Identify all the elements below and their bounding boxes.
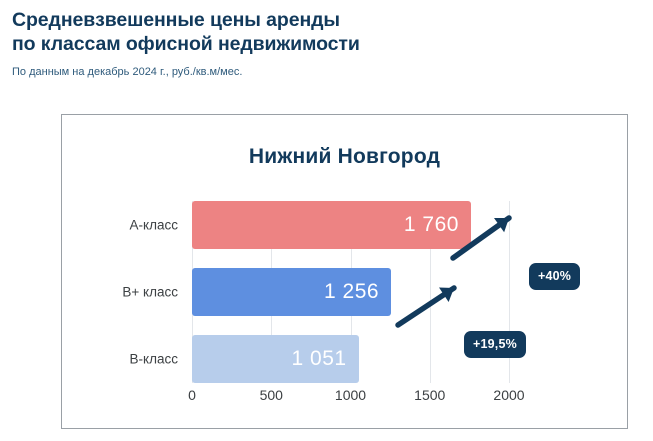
page-title-line-2: по классам офисной недвижимости	[12, 32, 632, 56]
bar-row: А-класс1 760	[192, 201, 509, 249]
screenshot-root: Средневзвешенные цены аренды по классам …	[0, 0, 653, 441]
category-label: А-класс	[130, 218, 178, 233]
page-title-line-1: Средневзвешенные цены аренды	[12, 8, 632, 32]
growth-badge: +40%	[529, 263, 580, 290]
x-tick-label: 1500	[414, 387, 445, 403]
bar-value-label: 1 256	[324, 280, 379, 304]
x-tick-label: 0	[188, 387, 196, 403]
plot-area: А-класс1 760В+ класс1 256В-класс1 051+19…	[192, 201, 509, 383]
bar-value-label: 1 051	[292, 347, 347, 371]
bar-row: В+ класс1 256	[192, 268, 509, 316]
x-tick-label: 1000	[335, 387, 366, 403]
category-label: В+ класс	[122, 285, 178, 300]
header: Средневзвешенные цены аренды по классам …	[12, 8, 632, 79]
growth-badge: +19,5%	[464, 331, 526, 358]
x-tick-label: 2000	[493, 387, 524, 403]
bar-value-label: 1 760	[404, 213, 459, 237]
bar-row: В-класс1 051	[192, 335, 509, 383]
category-label: В-класс	[130, 352, 178, 367]
x-tick-label: 500	[260, 387, 283, 403]
page-subtitle: По данным на декабрь 2024 г., руб./кв.м/…	[12, 65, 632, 79]
chart-panel: Нижний Новгород А-класс1 760В+ класс1 25…	[61, 114, 628, 429]
x-axis-tick-labels: 0500100015002000	[192, 387, 509, 409]
chart-title: Нижний Новгород	[62, 145, 627, 169]
